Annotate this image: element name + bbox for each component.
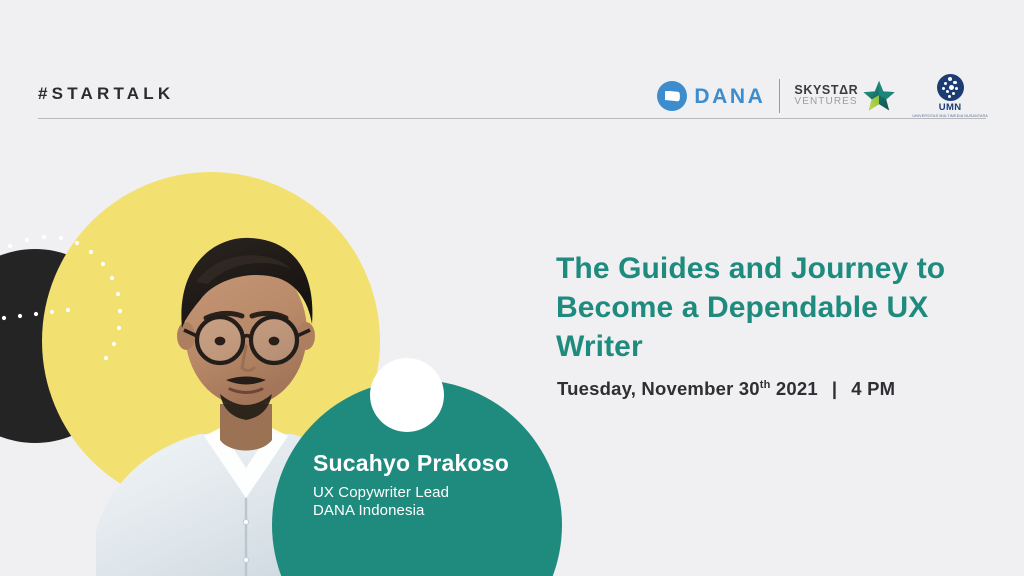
skystar-line-2: VENTURES: [794, 97, 858, 108]
speaker-organization: DANA Indonesia: [313, 502, 553, 520]
umn-logo-text: UMN: [939, 103, 962, 113]
dana-logo[interactable]: DANA: [657, 81, 765, 111]
event-title: The Guides and Journey to Become a Depen…: [556, 249, 996, 366]
logo-separator: [779, 79, 780, 113]
event-datetime: Tuesday, November 30th 2021|4 PM: [557, 378, 895, 400]
speaker-info: Sucahyo Prakoso UX Copywriter Lead DANA …: [313, 450, 553, 520]
skystar-ventures-logo[interactable]: SKYSTΔR VENTURES: [794, 79, 896, 113]
skystar-line-1: SKYSTΔR: [794, 84, 858, 98]
date-ordinal-suffix: th: [760, 379, 771, 391]
event-poster: #STARTALK DANA SKYSTΔR VENTURES: [0, 0, 1024, 576]
white-accent-circle: [370, 358, 444, 432]
partner-logo-bar: DANA SKYSTΔR VENTURES: [657, 72, 988, 120]
umn-circle-icon: [937, 74, 964, 101]
umn-logo-subtitle: UNIVERSITAS MULTIMEDIA NUSANTARA: [912, 114, 988, 118]
datetime-separator: |: [832, 378, 837, 400]
skystar-logo-text: SKYSTΔR VENTURES: [794, 84, 858, 108]
dana-logo-text: DANA: [694, 86, 765, 107]
speaker-role: UX Copywriter Lead: [313, 484, 553, 502]
dana-flag-icon: [657, 81, 687, 111]
event-time: 4 PM: [851, 378, 895, 399]
event-year: 2021: [771, 378, 818, 399]
speaker-name: Sucahyo Prakoso: [313, 450, 553, 478]
umn-logo[interactable]: UMN UNIVERSITAS MULTIMEDIA NUSANTARA: [912, 74, 988, 118]
event-hashtag: #STARTALK: [38, 84, 174, 104]
skystar-star-icon: [862, 79, 896, 113]
event-date: Tuesday, November 30: [557, 378, 760, 399]
